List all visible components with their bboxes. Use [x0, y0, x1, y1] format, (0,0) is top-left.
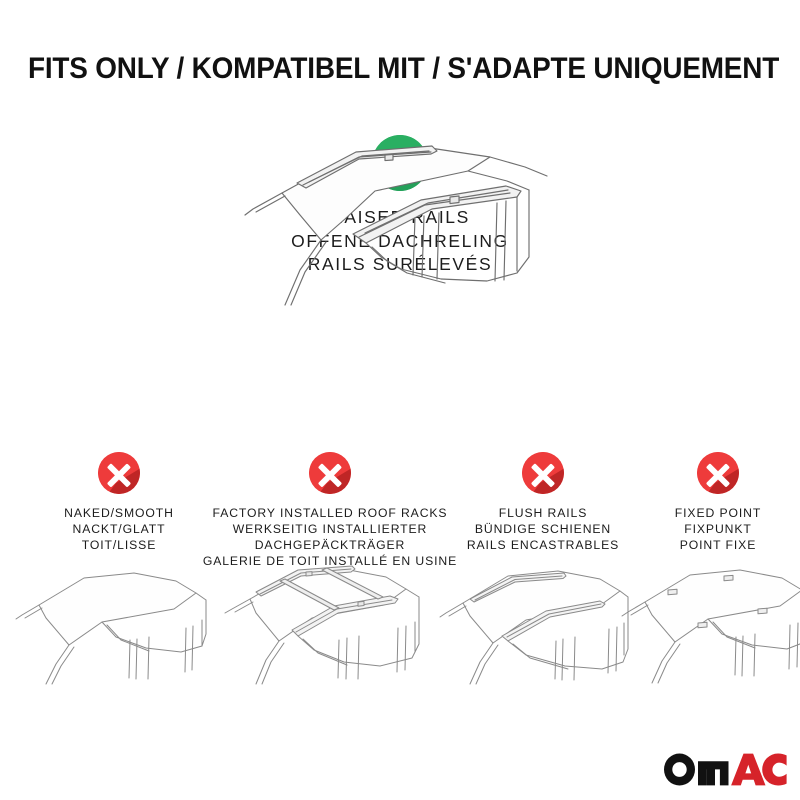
incompatible-labels: FLUSH RAILS BÜNDIGE SCHIENEN RAILS ENCAS…	[467, 505, 619, 553]
incompatible-label-line-2: NACKT/GLATT	[64, 521, 174, 537]
incompatible-label-line-1: FLUSH RAILS	[467, 505, 619, 521]
cross-circle-icon	[697, 452, 739, 494]
car-roof-fixed-points-illustration	[612, 552, 800, 685]
incompatible-label-line-1: FACTORY INSTALLED ROOF RACKS	[203, 505, 457, 521]
incompatible-label-line-3: POINT FIXE	[675, 537, 761, 553]
incompatible-label-line-2: WERKSEITIG INSTALLIERTER	[203, 521, 457, 537]
car-roof-flush-rails-illustration	[430, 555, 635, 685]
incompatible-labels: FIXED POINT FIXPUNKT POINT FIXE	[675, 505, 761, 553]
incompatible-item-flush-rails: FLUSH RAILS BÜNDIGE SCHIENEN RAILS ENCAS…	[443, 452, 643, 553]
page-title: FITS ONLY / KOMPATIBEL MIT / S'ADAPTE UN…	[28, 52, 772, 86]
cross-circle-icon	[309, 452, 351, 494]
incompatible-label-line-3: RAILS ENCASTRABLES	[467, 537, 619, 553]
incompatible-label-line-3: TOIT/LISSE	[64, 537, 174, 553]
car-roof-bare-illustration	[6, 560, 216, 685]
car-roof-raised-rails-illustration	[225, 145, 595, 310]
incompatible-item-fixed-point: FIXED POINT FIXPUNKT POINT FIXE	[633, 452, 800, 553]
incompatible-label-line-3: DACHGEPÄCKTRÄGER	[203, 537, 457, 553]
incompatible-label-line-1: FIXED POINT	[675, 505, 761, 521]
car-roof-factory-crossbars-illustration	[212, 552, 437, 685]
cross-circle-icon	[98, 452, 140, 494]
incompatible-label-line-2: BÜNDIGE SCHIENEN	[467, 521, 619, 537]
compatibility-infographic: FITS ONLY / KOMPATIBEL MIT / S'ADAPTE UN…	[0, 0, 800, 800]
incompatible-labels: NAKED/SMOOTH NACKT/GLATT TOIT/LISSE	[64, 505, 174, 553]
cross-circle-icon	[522, 452, 564, 494]
incompatible-item-naked-smooth: NAKED/SMOOTH NACKT/GLATT TOIT/LISSE	[14, 452, 224, 553]
incompatible-label-line-2: FIXPUNKT	[675, 521, 761, 537]
incompatible-label-line-1: NAKED/SMOOTH	[64, 505, 174, 521]
omac-logo	[660, 748, 790, 790]
